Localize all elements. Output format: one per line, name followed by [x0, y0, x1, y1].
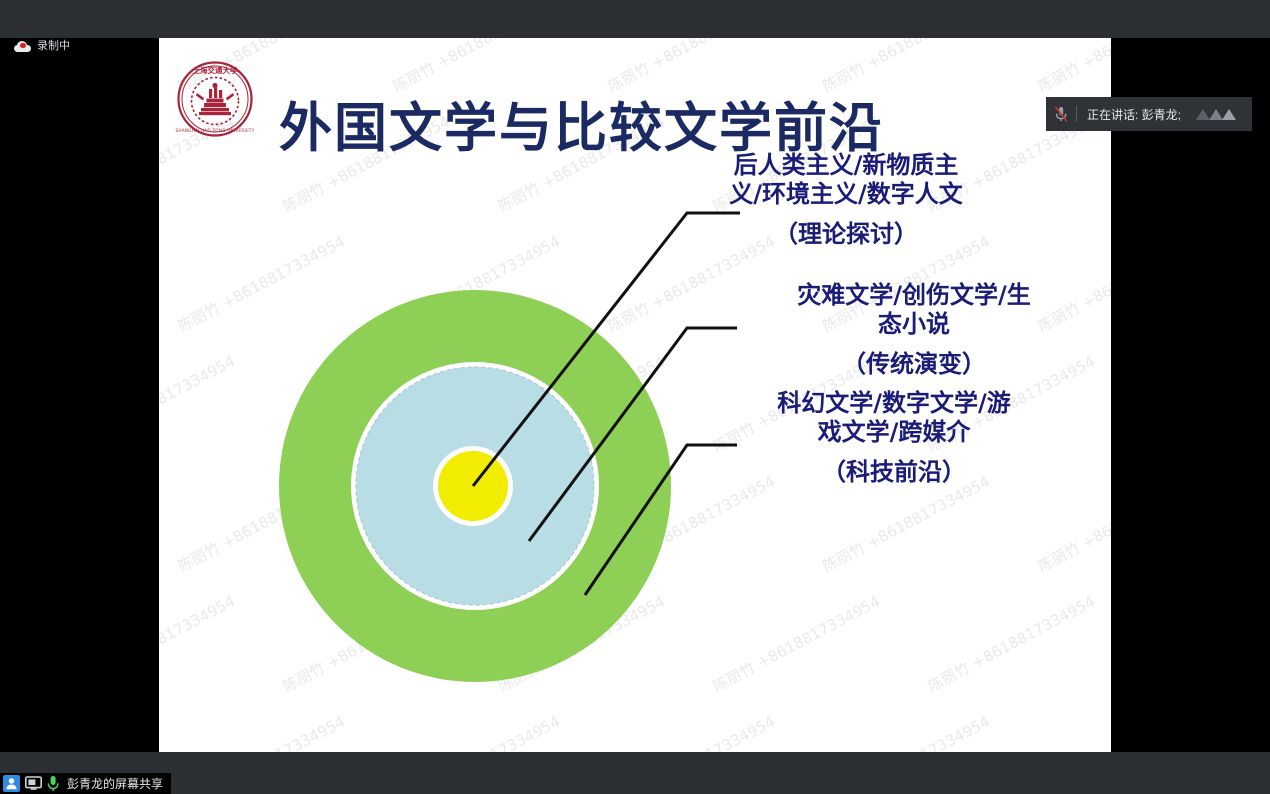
screen-share-label: 彭青龙的屏幕共享: [67, 775, 163, 792]
meeting-top-bar: [0, 0, 1270, 38]
meeting-bottom-bar: [0, 752, 1270, 794]
shared-slide: 陈丽竹 +8618817334954陈丽竹 +8618817334954陈丽竹 …: [159, 38, 1111, 752]
callout-theory: 后人类主义/新物质主义/环境主义/数字人文 （理论探讨）: [721, 151, 971, 249]
mic-muted-icon: [1046, 105, 1076, 123]
audio-wave-icon: [1196, 106, 1252, 122]
screen-share-status-bar[interactable]: 彭青龙的屏幕共享: [0, 773, 171, 794]
sjtu-logo: 上海交通大学 SHANGHAI JIAO TONG UNIVERSITY: [173, 60, 257, 138]
recording-label: 录制中: [37, 41, 70, 52]
microphone-icon: [47, 775, 59, 792]
callout-technology: 科幻文学/数字文学/游戏文学/跨媒介 （科技前沿）: [769, 389, 1019, 487]
screen-share-icon: [25, 776, 42, 791]
meeting-stage: 录制中 正在讲话: 彭青龙; 陈丽竹 +8618817334954陈丽竹 +86…: [0, 0, 1270, 794]
active-speaker-label: 正在讲话: 彭青龙;: [1077, 106, 1196, 123]
callout-tradition-topic: 灾难文学/创伤文学/生态小说: [797, 281, 1031, 338]
participant-icon: [3, 775, 20, 792]
svg-text:上海交通大学: 上海交通大学: [193, 65, 238, 75]
callout-tradition: 灾难文学/创伤文学/生态小说 （传统演变）: [789, 281, 1039, 379]
active-speaker-pill[interactable]: 正在讲话: 彭青龙;: [1046, 97, 1252, 131]
callout-theory-topic: 后人类主义/新物质主义/环境主义/数字人文: [729, 151, 963, 208]
recording-indicator[interactable]: 录制中: [14, 36, 70, 56]
callout-technology-topic: 科幻文学/数字文学/游戏文学/跨媒介: [777, 389, 1011, 446]
svg-text:SHANGHAI JIAO TONG UNIVERSITY: SHANGHAI JIAO TONG UNIVERSITY: [175, 128, 254, 133]
cloud-recording-icon: [14, 41, 31, 52]
callout-theory-category: （理论探讨）: [721, 220, 971, 249]
callout-technology-category: （科技前沿）: [769, 458, 1019, 487]
callout-tradition-category: （传统演变）: [789, 350, 1039, 379]
